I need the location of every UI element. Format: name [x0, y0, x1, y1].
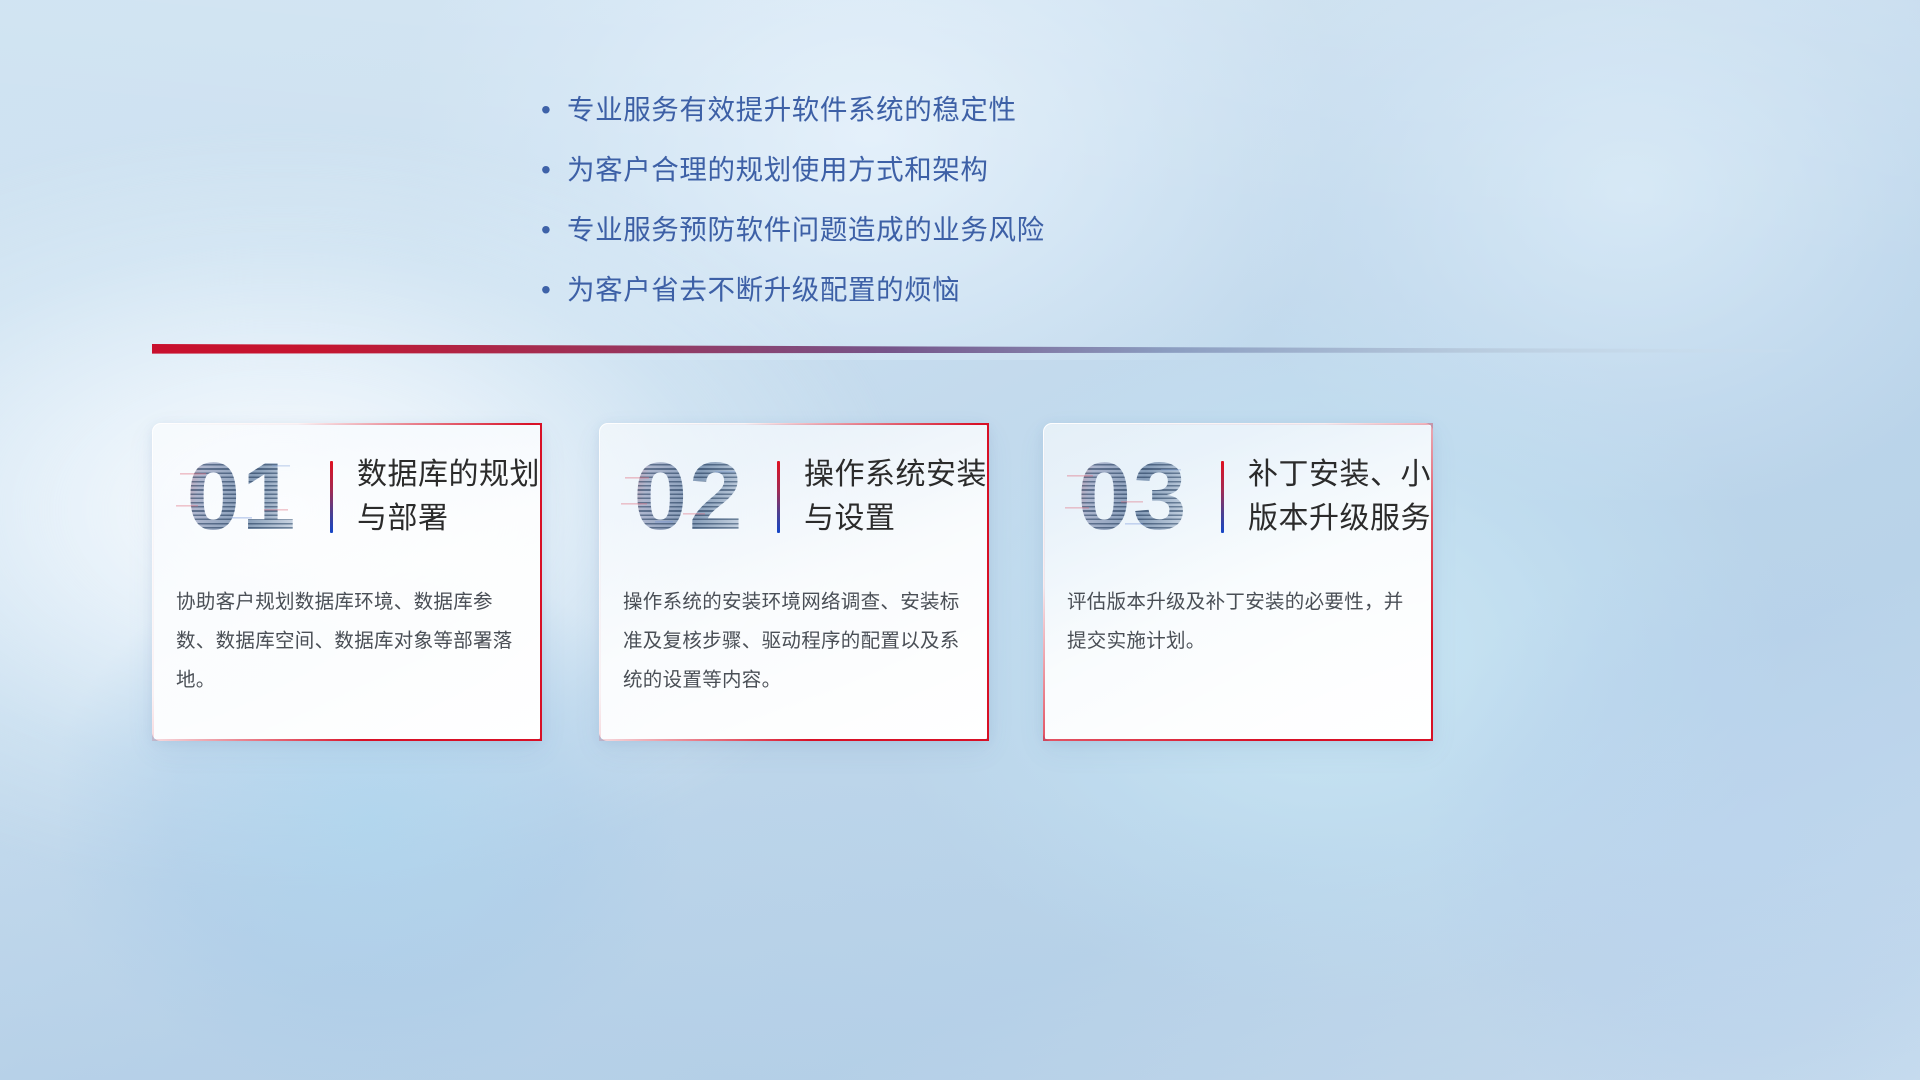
card-number-03: 03 [1063, 443, 1203, 551]
bullet-dot-icon: • [533, 150, 567, 190]
card-title-divider [777, 461, 780, 533]
bullet-dot-icon: • [533, 210, 567, 250]
service-card-01[interactable]: 01 数据库的规划 与部署 协助客户规划数据库环境、数据库参数、数据库空间、数据… [152, 423, 542, 741]
divider-wedge-icon [152, 344, 1792, 358]
card-header: 01 数据库的规划 与部署 [152, 423, 542, 571]
card-header: 03 补丁安装、小 版本升级服务 [1043, 423, 1433, 571]
slide-canvas: • 专业服务有效提升软件系统的稳定性 • 为客户合理的规划使用方式和架构 • 专… [0, 0, 1920, 1080]
card-body-02: 操作系统的安装环境网络调查、安装标准及复核步骤、驱动程序的配置以及系统的设置等内… [623, 583, 971, 700]
card-body-01: 协助客户规划数据库环境、数据库参数、数据库空间、数据库对象等部署落地。 [176, 583, 524, 700]
bullet-item-3: • 专业服务预防软件问题造成的业务风险 [533, 210, 1433, 250]
card-title-02: 操作系统安装 与设置 [804, 453, 987, 541]
bullet-text-2: 为客户合理的规划使用方式和架构 [567, 150, 989, 190]
service-card-list: 01 数据库的规划 与部署 协助客户规划数据库环境、数据库参数、数据库空间、数据… [152, 423, 1768, 741]
bullet-item-2: • 为客户合理的规划使用方式和架构 [533, 150, 1433, 190]
card-title-line-1: 操作系统安装 [804, 453, 987, 497]
card-title-03: 补丁安装、小 版本升级服务 [1248, 453, 1431, 541]
card-title-line-2: 与部署 [357, 497, 540, 541]
bullet-item-4: • 为客户省去不断升级配置的烦恼 [533, 270, 1433, 310]
card-title-line-2: 版本升级服务 [1248, 497, 1431, 541]
section-divider [152, 344, 1792, 358]
card-number-text: 01 [172, 443, 312, 551]
card-number-02: 02 [619, 443, 759, 551]
card-title-line-1: 补丁安装、小 [1248, 453, 1431, 497]
service-card-03[interactable]: 03 补丁安装、小 版本升级服务 评估版本升级及补丁安装的必要性，并提交实施计划… [1043, 423, 1433, 741]
card-title-01: 数据库的规划 与部署 [357, 453, 540, 541]
bullet-dot-icon: • [533, 90, 567, 130]
card-number-text: 02 [619, 443, 759, 551]
bullet-text-1: 专业服务有效提升软件系统的稳定性 [567, 90, 1017, 130]
card-header: 02 操作系统安装 与设置 [599, 423, 989, 571]
card-title-divider [1221, 461, 1224, 533]
bullet-item-1: • 专业服务有效提升软件系统的稳定性 [533, 90, 1433, 130]
card-title-divider [330, 461, 333, 533]
card-number-text: 03 [1063, 443, 1203, 551]
service-card-02[interactable]: 02 操作系统安装 与设置 操作系统的安装环境网络调查、安装标准及复核步骤、驱动… [599, 423, 989, 741]
bullet-text-4: 为客户省去不断升级配置的烦恼 [567, 270, 960, 310]
bullet-text-3: 专业服务预防软件问题造成的业务风险 [567, 210, 1045, 250]
bullet-list: • 专业服务有效提升软件系统的稳定性 • 为客户合理的规划使用方式和架构 • 专… [533, 90, 1433, 330]
card-number-01: 01 [172, 443, 312, 551]
card-body-03: 评估版本升级及补丁安装的必要性，并提交实施计划。 [1067, 583, 1415, 661]
card-title-line-2: 与设置 [804, 497, 987, 541]
card-title-line-1: 数据库的规划 [357, 453, 540, 497]
bullet-dot-icon: • [533, 270, 567, 310]
